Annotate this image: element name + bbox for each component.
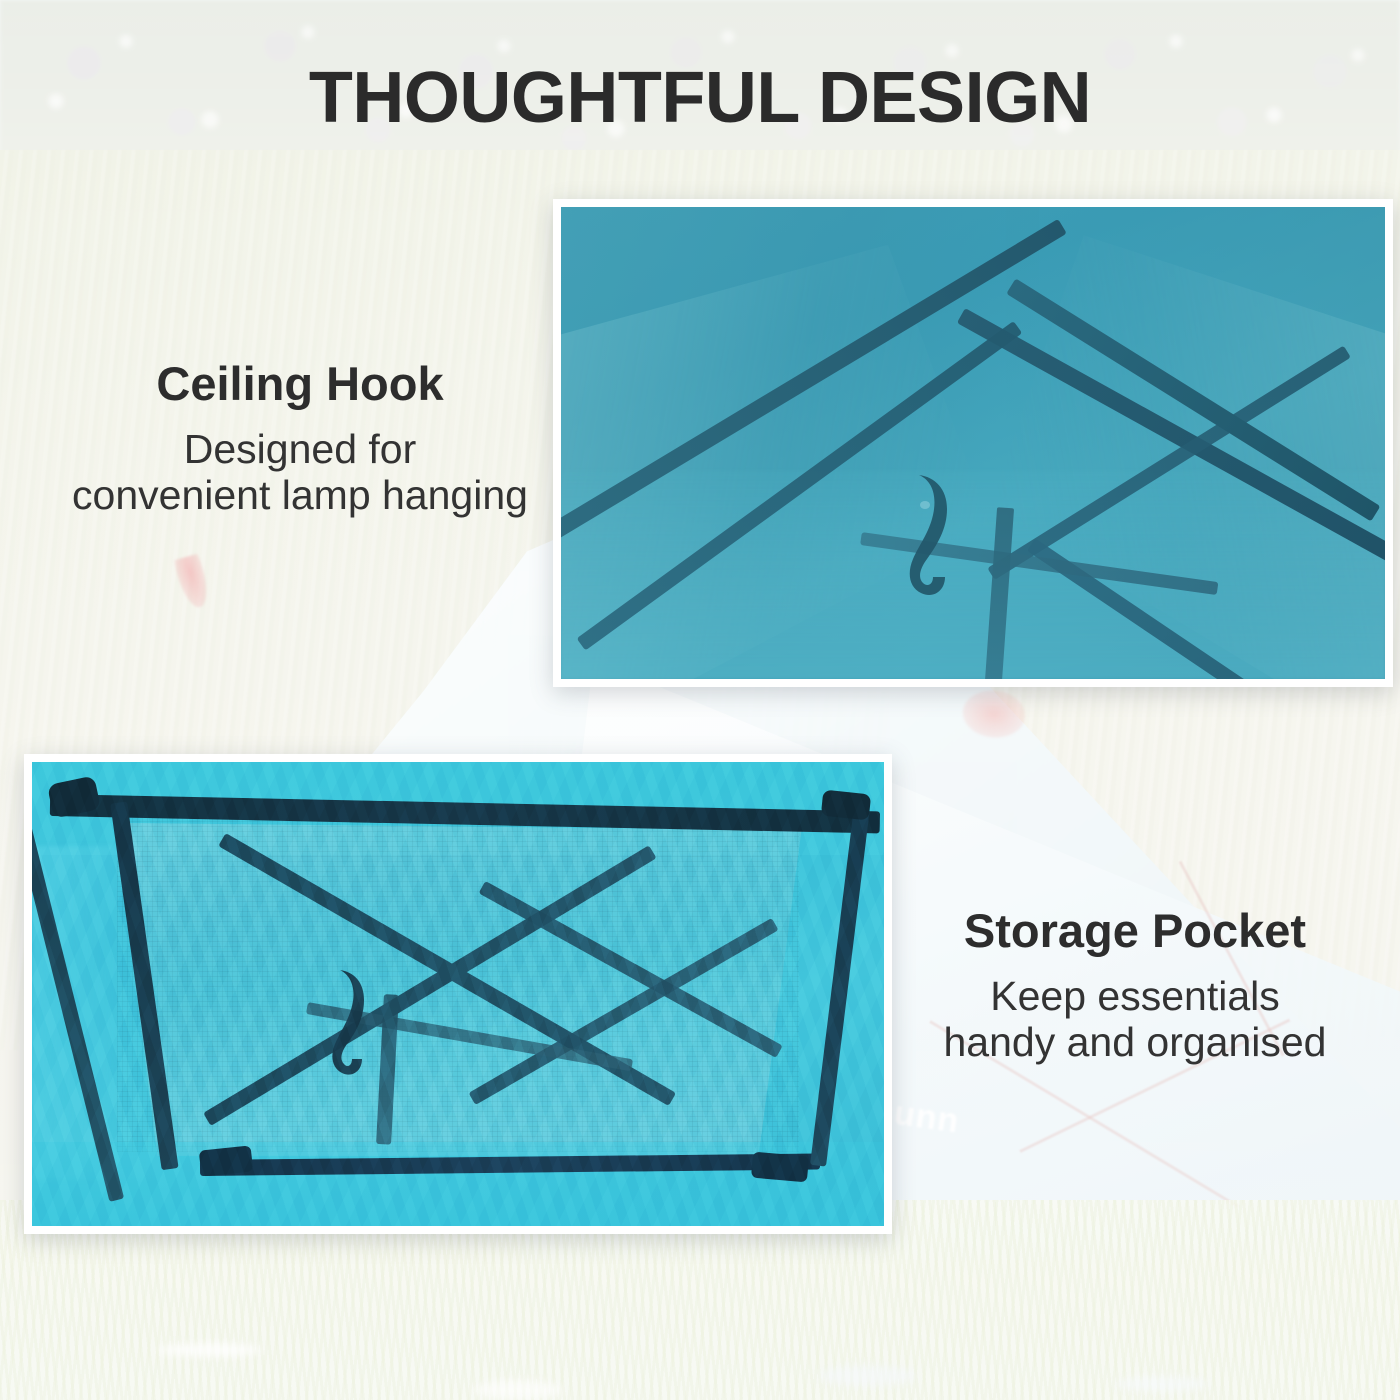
ceiling-hook-icon: [883, 475, 969, 625]
storage-pocket-subtitle: Keep essentials handy and organised: [900, 974, 1370, 1066]
storage-pocket-text-block: Storage Pocket Keep essentials handy and…: [900, 905, 1370, 1065]
storage-pocket-photo-card: [24, 754, 892, 1234]
ceiling-hook-heading: Ceiling Hook: [20, 358, 580, 411]
ceiling-hook-subtitle: Designed for convenient lamp hanging: [20, 427, 580, 519]
ceiling-hook-text-block: Ceiling Hook Designed for convenient lam…: [20, 358, 580, 518]
ceiling-hook-photo-card: [553, 199, 1393, 687]
storage-pocket-photo: [32, 762, 884, 1226]
ceiling-hook-photo: [561, 207, 1385, 679]
infographic-page: tsunn THOUGHTFUL DESIGN: [0, 0, 1400, 1400]
storage-pocket-heading: Storage Pocket: [900, 905, 1370, 958]
page-title: THOUGHTFUL DESIGN: [0, 62, 1400, 134]
fabric-wrinkles: [32, 762, 884, 1226]
